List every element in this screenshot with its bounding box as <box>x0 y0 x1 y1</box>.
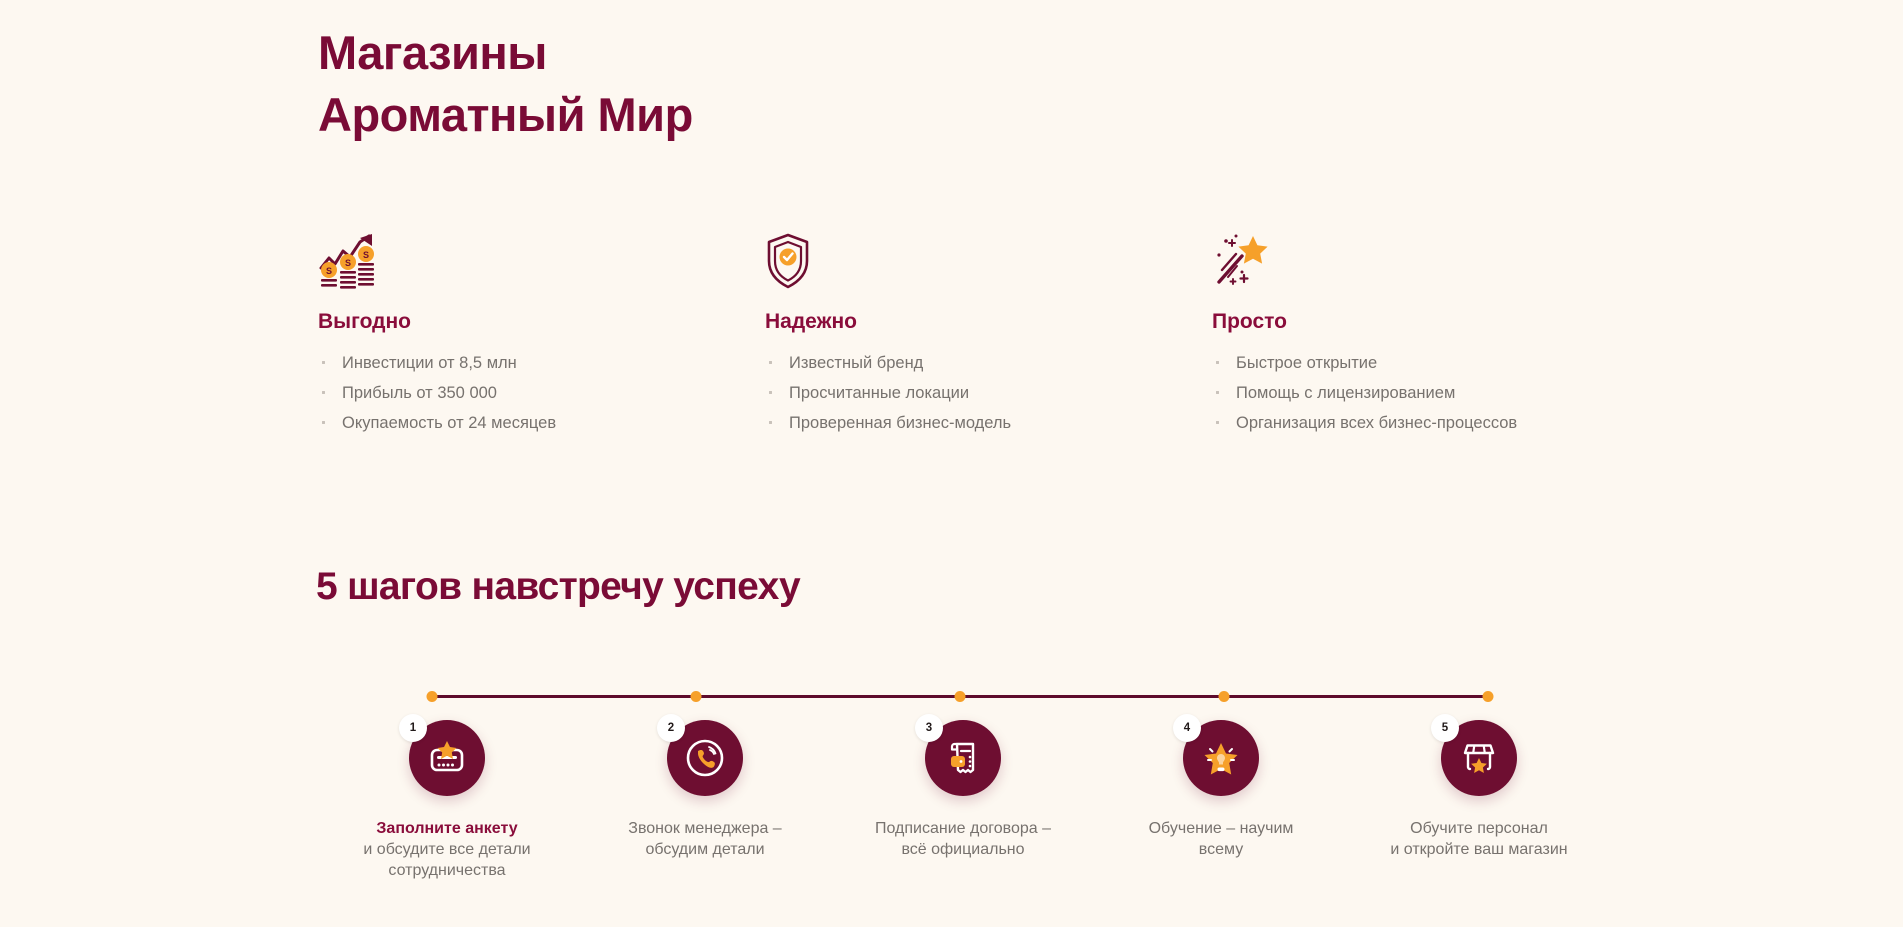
page-title-line-1: Магазины <box>318 22 693 84</box>
bullet-icon <box>769 421 772 424</box>
step-caption-line-1: Заполните анкету <box>363 818 530 839</box>
feature-list-item: Инвестиции от 8,5 млн <box>318 353 765 374</box>
feature-list-item: Помощь с лицензированием <box>1212 383 1608 404</box>
step-caption-5: Обучите персонал и откройте ваш магазин <box>1390 818 1567 860</box>
step-circle-wrap-3: 3 <box>925 720 1001 796</box>
step-caption-1: Заполните анкету и обсудите все детали с… <box>363 818 530 881</box>
feature-column-nadezhno: Надежно Известный бренд Просчитанные лок… <box>765 228 1212 443</box>
feature-title: Просто <box>1212 310 1608 334</box>
step-caption-line-2: обсудим детали <box>628 839 781 860</box>
contract-stamp-icon <box>943 738 983 778</box>
step-caption-line-2: всё официально <box>875 839 1051 860</box>
step-item-1[interactable]: 1 Заполните анкету и обсудите все детали… <box>318 720 576 881</box>
step-caption-line-1: Обучение – научим <box>1149 818 1294 839</box>
star-lightbulb-icon <box>1201 738 1241 778</box>
landing-page: Магазины Ароматный Мир S S <box>0 0 1903 927</box>
shield-check-icon <box>765 228 1212 290</box>
bullet-icon <box>322 361 325 364</box>
feature-list-item-label: Проверенная бизнес-модель <box>789 414 1011 432</box>
feature-title: Надежно <box>765 310 1212 334</box>
bullet-icon <box>322 421 325 424</box>
step-item-3[interactable]: 3 Подписание договора – всё официально <box>834 720 1092 881</box>
step-caption-line-2: и обсудите все детали <box>363 839 530 860</box>
bullet-icon <box>1216 421 1219 424</box>
form-star-icon <box>427 738 467 778</box>
feature-title: Выгодно <box>318 310 765 334</box>
feature-list: Быстрое открытие Помощь с лицензирование… <box>1212 353 1608 434</box>
step-circle-wrap-5: 5 <box>1441 720 1517 796</box>
step-caption-3: Подписание договора – всё официально <box>875 818 1051 860</box>
svg-text:S: S <box>345 258 351 268</box>
feature-list-item-label: Окупаемость от 24 месяцев <box>342 414 556 432</box>
feature-list-item: Организация всех бизнес-процессов <box>1212 413 1608 434</box>
timeline-dot-3 <box>955 691 966 702</box>
magic-wand-star-icon <box>1212 228 1608 290</box>
step-badge-1: 1 <box>399 714 427 742</box>
bullet-icon <box>322 391 325 394</box>
step-caption-line-3: сотрудничества <box>363 860 530 881</box>
step-caption-line-1: Подписание договора – <box>875 818 1051 839</box>
step-item-5[interactable]: 5 Обучите персонал и откройте ваш магази… <box>1350 720 1608 881</box>
timeline-dot-2 <box>691 691 702 702</box>
timeline-dot-4 <box>1219 691 1230 702</box>
step-caption-line-1: Обучите персонал <box>1390 818 1567 839</box>
page-title-line-2: Ароматный Мир <box>318 84 693 146</box>
step-badge-4: 4 <box>1173 714 1201 742</box>
timeline-dot-5 <box>1483 691 1494 702</box>
step-circle-wrap-1: 1 <box>409 720 485 796</box>
step-badge-3: 3 <box>915 714 943 742</box>
steps-timeline <box>432 691 1488 701</box>
feature-list-item-label: Известный бренд <box>789 354 923 372</box>
feature-list-item: Окупаемость от 24 месяцев <box>318 413 765 434</box>
feature-list-item-label: Прибыль от 350 000 <box>342 384 497 402</box>
feature-list-item-label: Просчитанные локации <box>789 384 969 402</box>
page-title: Магазины Ароматный Мир <box>318 22 693 146</box>
svg-text:S: S <box>326 266 332 276</box>
step-caption-line-1: Звонок менеджера – <box>628 818 781 839</box>
feature-list-item: Проверенная бизнес-модель <box>765 413 1212 434</box>
feature-list-item-label: Инвестиции от 8,5 млн <box>342 354 517 372</box>
bullet-icon <box>1216 391 1219 394</box>
step-circle-wrap-4: 4 <box>1183 720 1259 796</box>
step-item-2[interactable]: 2 Звонок менеджера – обсудим детали <box>576 720 834 881</box>
feature-list-item-label: Организация всех бизнес-процессов <box>1236 414 1517 432</box>
feature-list-item: Известный бренд <box>765 353 1212 374</box>
step-item-4[interactable]: 4 Обучение – научим всему <box>1092 720 1350 881</box>
feature-list-item: Прибыль от 350 000 <box>318 383 765 404</box>
feature-list-item: Просчитанные локации <box>765 383 1212 404</box>
svg-text:S: S <box>363 250 369 260</box>
bullet-icon <box>769 361 772 364</box>
feature-list-item: Быстрое открытие <box>1212 353 1608 374</box>
bullet-icon <box>1216 361 1219 364</box>
storefront-star-icon <box>1459 738 1499 778</box>
timeline-dot-1 <box>427 691 438 702</box>
step-caption-4: Обучение – научим всему <box>1149 818 1294 860</box>
step-circle-wrap-2: 2 <box>667 720 743 796</box>
feature-list: Инвестиции от 8,5 млн Прибыль от 350 000… <box>318 353 765 434</box>
step-caption-line-2: и откройте ваш магазин <box>1390 839 1567 860</box>
steps-row: 1 Заполните анкету и обсудите все детали… <box>318 720 1608 881</box>
feature-list-item-label: Быстрое открытие <box>1236 354 1377 372</box>
step-caption-2: Звонок менеджера – обсудим детали <box>628 818 781 860</box>
steps-section-heading: 5 шагов навстречу успеху <box>316 565 800 609</box>
feature-column-vygodno: S S S Выгодно <box>318 228 765 443</box>
feature-list: Известный бренд Просчитанные локации Про… <box>765 353 1212 434</box>
feature-list-item-label: Помощь с лицензированием <box>1236 384 1455 402</box>
growth-chart-coins-icon: S S S <box>318 228 765 290</box>
bullet-icon <box>769 391 772 394</box>
step-badge-2: 2 <box>657 714 685 742</box>
features-row: S S S Выгодно <box>318 228 1608 443</box>
step-caption-line-2: всему <box>1149 839 1294 860</box>
step-badge-5: 5 <box>1431 714 1459 742</box>
phone-call-icon <box>684 737 726 779</box>
feature-column-prosto: Просто Быстрое открытие Помощь с лицензи… <box>1212 228 1608 443</box>
